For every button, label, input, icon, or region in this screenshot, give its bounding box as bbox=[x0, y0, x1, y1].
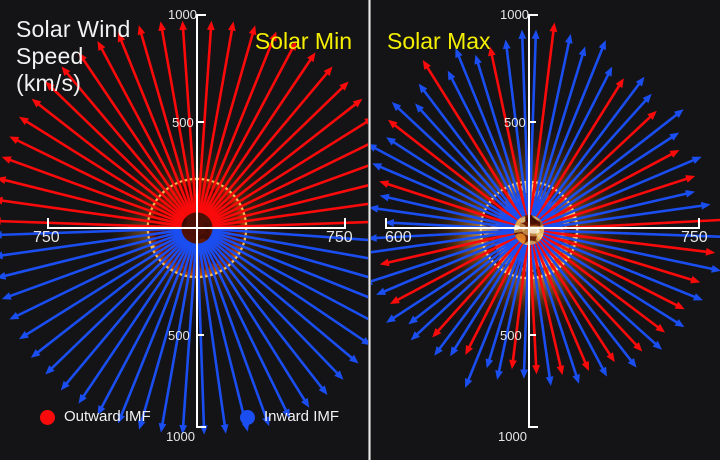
tick-lower-mid-max bbox=[528, 334, 536, 336]
tick-label-left-max: 600 bbox=[385, 231, 412, 245]
legend-label-inward-imf: Inward IMF bbox=[264, 408, 339, 426]
tick-label-top-max: 1000 bbox=[500, 8, 529, 22]
page-title: Solar Wind Speed (km/s) bbox=[16, 16, 130, 97]
axis-cap-right-min bbox=[344, 218, 346, 229]
tick-label-bottom-max: 1000 bbox=[498, 430, 527, 444]
legend-item-inward-imf: Inward IMF bbox=[240, 408, 339, 426]
solar-wind-speed-figure: 1000 500 500 1000 750 750 Solar Wind Spe… bbox=[0, 0, 720, 460]
tick-label-top-min: 1000 bbox=[168, 8, 197, 22]
phase-label-solar-min: Solar Min bbox=[255, 28, 352, 54]
axis-cap-right-max bbox=[698, 218, 700, 229]
tick-upper-mid-min bbox=[196, 121, 204, 123]
tick-upper-mid-max bbox=[528, 121, 536, 123]
tick-label-left-min: 750 bbox=[33, 231, 60, 245]
tick-label-right-min: 750 bbox=[326, 231, 353, 245]
blue-circle-icon bbox=[240, 410, 255, 425]
vertical-axis-max bbox=[528, 14, 530, 428]
tick-label-lower-mid-min: 500 bbox=[168, 329, 190, 343]
vertical-axis-min bbox=[196, 14, 198, 428]
horizontal-axis-min bbox=[47, 227, 346, 229]
horizontal-axis-max bbox=[385, 227, 700, 229]
tick-label-right-max: 750 bbox=[681, 231, 708, 245]
panel-background-max bbox=[371, 0, 720, 460]
panel-solar-max: 1000 500 500 1000 600 750 Solar Max bbox=[371, 0, 720, 460]
tick-label-upper-mid-max: 500 bbox=[504, 116, 526, 130]
axis-cap-top-max bbox=[528, 14, 538, 16]
legend-item-outward-imf: Outward IMF bbox=[40, 408, 151, 426]
legend: Outward IMF Inward IMF bbox=[0, 408, 368, 434]
red-circle-icon bbox=[40, 410, 55, 425]
axis-cap-left-max bbox=[385, 218, 387, 228]
legend-label-outward-imf: Outward IMF bbox=[64, 408, 151, 426]
phase-label-solar-max: Solar Max bbox=[387, 28, 491, 54]
panel-solar-min: 1000 500 500 1000 750 750 Solar Wind Spe… bbox=[0, 0, 368, 460]
axis-cap-left-min bbox=[47, 218, 49, 228]
tick-label-upper-mid-min: 500 bbox=[172, 116, 194, 130]
tick-lower-mid-min bbox=[196, 334, 204, 336]
axis-cap-bottom-max bbox=[528, 426, 538, 428]
axis-cap-top-min bbox=[196, 14, 206, 16]
tick-label-lower-mid-max: 500 bbox=[500, 329, 522, 343]
